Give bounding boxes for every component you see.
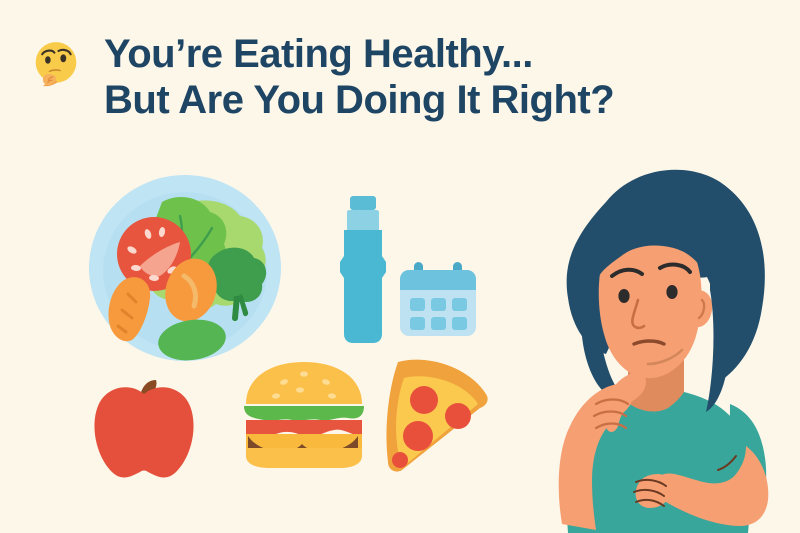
burger-lettuce [244,406,364,421]
headline-line-2: But Are You Doing It Right? [104,78,614,124]
apple-body [94,387,193,477]
page-title: You’re Eating Healthy... But Are You Doi… [104,32,614,123]
apple-illustration [88,378,200,484]
ear [692,290,712,327]
thinking-face-icon [30,38,82,90]
headline-line-1: You’re Eating Healthy... [104,32,614,78]
headline-block: You’re Eating Healthy... But Are You Doi… [30,32,730,123]
eye-right [666,285,677,299]
woman-thinking-illustration [478,158,800,533]
pepperoni-2 [445,403,471,429]
bottle-body [340,230,386,343]
eye-left [618,289,629,303]
pepperoni-4 [392,452,408,468]
pizza-illustration [372,356,494,478]
calendar-header [400,270,476,290]
pepperoni-3 [403,421,433,451]
pepperoni-1 [410,386,438,414]
burger-bottom-bun [246,448,362,468]
salad-plate-illustration [88,172,282,364]
poster-canvas: You’re Eating Healthy... But Are You Doi… [0,0,800,533]
bottle-neck [347,210,379,230]
water-bottle-illustration [330,196,396,344]
burger-illustration [240,358,368,470]
burger-top-bun [246,362,362,404]
bottle-cap [350,196,376,210]
calendar-illustration [398,262,478,338]
